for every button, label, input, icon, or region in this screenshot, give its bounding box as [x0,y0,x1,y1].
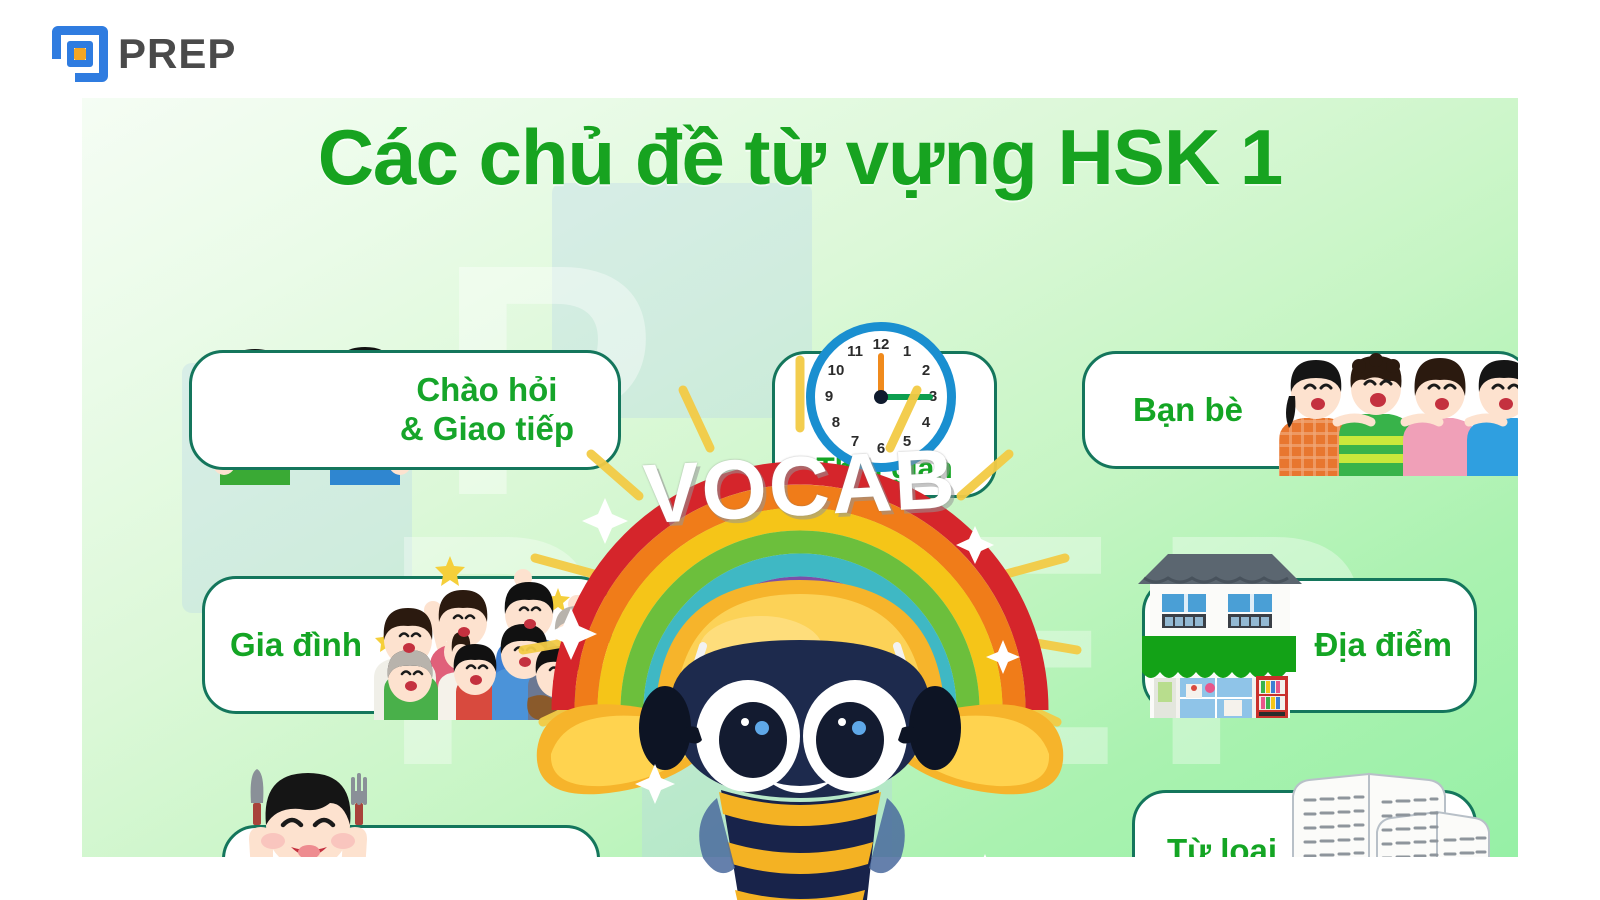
topic-card-food[interactable]: Ăn uống [222,825,600,857]
clock-hour-1: 1 [897,343,917,360]
topic-card-word[interactable]: Từ loại [1132,790,1477,857]
clock-hour-9: 9 [819,388,839,405]
clock-hour-7: 7 [845,433,865,450]
clock-hour-2: 2 [916,362,936,379]
clock-hour-4: 4 [916,414,936,431]
clock-hour-6: 6 [871,440,891,457]
clock-hour-12: 12 [871,336,891,353]
clock-hour-10: 10 [826,362,846,379]
topic-card-greeting[interactable]: Chào hỏi & Giao tiếp [189,350,621,470]
poster-panel: P PREP Các chủ đề từ vựng HSK 1 [82,98,1518,857]
prep-logo-icon [52,26,108,82]
topic-label-friends: Bạn bè [1133,391,1243,430]
clock-hour-8: 8 [826,414,846,431]
topic-label-word: Từ loại [1167,832,1277,857]
topic-label-place: Địa điểm [1314,626,1452,665]
prep-brand-logo[interactable]: PREP [52,26,236,82]
topic-card-friends[interactable]: Bạn bè [1082,351,1518,469]
poster-root: PREP P PREP Các chủ đề từ vựng HSK 1 [0,0,1600,900]
topic-card-place[interactable]: Địa điểm [1142,578,1477,713]
topic-card-family[interactable]: Gia đình [202,576,612,714]
topic-label-family: Gia đình [230,626,362,665]
clock-hour-5: 5 [897,433,917,450]
brand-name: PREP [118,33,236,75]
clock-icon: 121234567891011 [806,322,956,472]
page-title: Các chủ đề từ vựng HSK 1 [82,112,1518,203]
topic-label-greeting: Chào hỏi & Giao tiếp [400,371,574,449]
clock-hour-11: 11 [845,343,865,360]
